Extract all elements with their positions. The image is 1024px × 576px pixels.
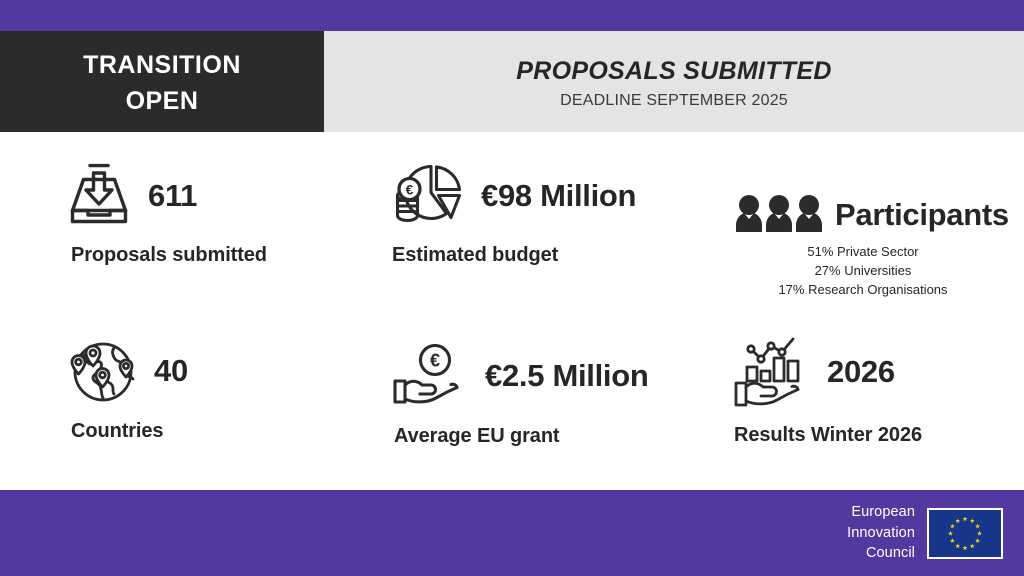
stat-average-grant: € €2.5 Million Average EU grant <box>393 337 649 448</box>
brand-line-1: European <box>847 502 915 523</box>
hand-euro-coin-icon: € <box>393 344 469 406</box>
globe-pins-icon <box>70 335 140 405</box>
brand-line-3: Council <box>847 543 915 564</box>
top-accent-bar <box>0 0 1024 31</box>
stat-headline: € €98 Million <box>391 157 636 233</box>
stat-label: Proposals submitted <box>71 244 267 267</box>
stat-value: €98 Million <box>481 180 636 211</box>
breakdown-item: 27% Universities <box>735 262 991 281</box>
eic-branding: European Innovation Council <box>847 504 1003 562</box>
stat-value: 40 <box>154 355 188 386</box>
programme-badge-line2: OPEN <box>126 83 199 119</box>
stat-value: Participants <box>835 199 1009 230</box>
header-band: TRANSITION OPEN PROPOSALS SUBMITTED DEAD… <box>0 31 1024 132</box>
stat-estimated-budget: € €98 Million Estimated budget <box>391 157 636 267</box>
slide-root: TRANSITION OPEN PROPOSALS SUBMITTED DEAD… <box>0 0 1024 576</box>
stat-results-year: 2026 Results Winter 2026 <box>733 330 922 447</box>
page-title: PROPOSALS SUBMITTED <box>516 55 831 88</box>
eic-brand-text: European Innovation Council <box>847 502 915 564</box>
pie-chart-coins-icon: € <box>391 162 467 228</box>
inbox-download-icon <box>70 163 136 227</box>
stat-headline: 2026 <box>733 330 922 412</box>
eu-flag-icon <box>927 508 1003 559</box>
stat-headline: 611 <box>70 157 267 233</box>
page-subtitle: DEADLINE SEPTEMBER 2025 <box>560 92 788 110</box>
eu-flag-field <box>929 510 1001 557</box>
stat-participants: Participants 51% Private Sector 27% Univ… <box>735 192 1009 300</box>
three-people-icon <box>735 194 823 234</box>
breakdown-item: 51% Private Sector <box>735 243 991 262</box>
stat-label: Results Winter 2026 <box>734 424 922 447</box>
stat-label: Countries <box>71 420 188 443</box>
stat-label: Estimated budget <box>392 244 636 267</box>
header-title-block: PROPOSALS SUBMITTED DEADLINE SEPTEMBER 2… <box>324 31 1024 132</box>
footer-bar: European Innovation Council <box>0 490 1024 576</box>
eu-stars <box>929 510 1001 557</box>
stat-headline: 40 <box>70 332 188 408</box>
stat-countries: 40 Countries <box>70 332 188 443</box>
hand-bar-chart-icon <box>733 331 813 411</box>
brand-line-2: Innovation <box>847 523 915 544</box>
stat-headline: Participants <box>735 192 1009 236</box>
svg-text:€: € <box>430 351 440 371</box>
stat-value: €2.5 Million <box>485 360 649 391</box>
programme-badge: TRANSITION OPEN <box>0 31 324 132</box>
stat-value: 611 <box>148 180 197 211</box>
programme-badge-line1: TRANSITION <box>83 47 241 83</box>
stat-proposals-submitted: 611 Proposals submitted <box>70 157 267 267</box>
stats-grid: 611 Proposals submitted <box>0 132 1024 490</box>
stat-value: 2026 <box>827 356 895 387</box>
stat-headline: € €2.5 Million <box>393 337 649 413</box>
stat-label: Average EU grant <box>394 425 649 448</box>
svg-text:€: € <box>406 182 414 197</box>
breakdown-item: 17% Research Organisations <box>735 281 991 300</box>
participants-breakdown: 51% Private Sector 27% Universities 17% … <box>735 243 991 300</box>
